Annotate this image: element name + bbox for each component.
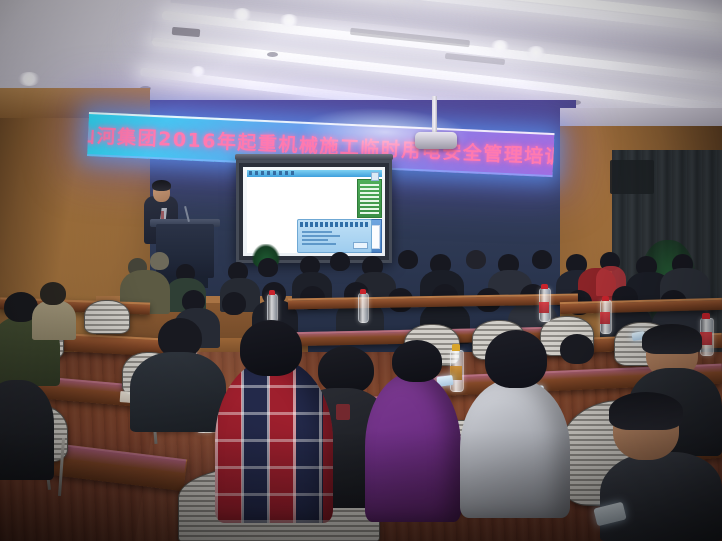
attendee-head bbox=[330, 252, 350, 271]
phone-user-hair bbox=[609, 392, 683, 430]
attendee-head bbox=[466, 250, 486, 269]
attendee-torso-khaki bbox=[32, 300, 76, 340]
purple-sweater-attendee-head bbox=[392, 340, 442, 382]
attendee-head bbox=[150, 252, 169, 270]
plaid-shirt-attendee-torso bbox=[215, 358, 333, 523]
water-bottle[interactable] bbox=[267, 294, 278, 323]
conference-room-photo: 山河集团2016年起重机械施工临时用电安全管理培训 bbox=[0, 0, 722, 541]
attendee-hair bbox=[642, 324, 702, 354]
bottle-cap bbox=[541, 284, 548, 289]
attendee-head bbox=[258, 258, 278, 277]
projected-dialog-row bbox=[302, 231, 332, 233]
grey-sweater-attendee-torso bbox=[460, 378, 570, 518]
ceiling-downlight bbox=[490, 40, 510, 53]
purple-sweater-attendee-torso bbox=[365, 372, 461, 522]
chair[interactable] bbox=[84, 300, 130, 334]
ceiling-downlight bbox=[18, 72, 40, 86]
phone-user-torso bbox=[600, 452, 722, 541]
plaid-shirt-attendee-head bbox=[240, 320, 302, 376]
ceiling-downlight bbox=[526, 46, 546, 59]
attendee-head bbox=[40, 282, 66, 305]
ceiling-downlight bbox=[279, 14, 299, 27]
wall-speaker-box bbox=[610, 160, 654, 194]
attendee-head bbox=[532, 250, 552, 269]
grey-sweater-attendee-head bbox=[485, 330, 547, 388]
attendee-head bbox=[398, 250, 418, 269]
attendee-head bbox=[560, 334, 594, 364]
ceiling-projector bbox=[415, 132, 457, 149]
smoke-detector-icon bbox=[267, 52, 278, 57]
bottle-cap bbox=[702, 313, 710, 319]
projected-dialog-window bbox=[297, 219, 372, 253]
attendee-head bbox=[222, 292, 246, 315]
projected-green-panel bbox=[357, 179, 382, 218]
bottle-cap bbox=[360, 289, 366, 294]
water-bottle[interactable] bbox=[358, 293, 369, 323]
ceiling-downlight bbox=[190, 66, 206, 77]
attendee-torso-dark bbox=[0, 380, 54, 480]
bottle-cap bbox=[602, 296, 609, 301]
shirt-logo bbox=[336, 404, 350, 420]
projected-dialog-titlebar bbox=[300, 222, 369, 227]
bottle-cap bbox=[452, 344, 460, 351]
projected-dialog-button bbox=[353, 242, 368, 249]
projected-toolbar-icon bbox=[371, 172, 379, 181]
projected-dialog-row bbox=[302, 239, 328, 241]
bottle-cap bbox=[269, 290, 275, 295]
ceiling-downlight bbox=[232, 8, 252, 21]
bottle-label bbox=[600, 312, 610, 324]
projected-app-title-text bbox=[249, 171, 295, 175]
projection-screen-surface bbox=[243, 167, 385, 256]
projected-dialog-row bbox=[302, 243, 336, 245]
bottle-label bbox=[539, 302, 549, 313]
presenter-hair bbox=[152, 180, 171, 191]
attendee-head bbox=[318, 346, 374, 394]
projected-dialog-row bbox=[302, 235, 340, 237]
attendee-torso bbox=[130, 352, 226, 432]
